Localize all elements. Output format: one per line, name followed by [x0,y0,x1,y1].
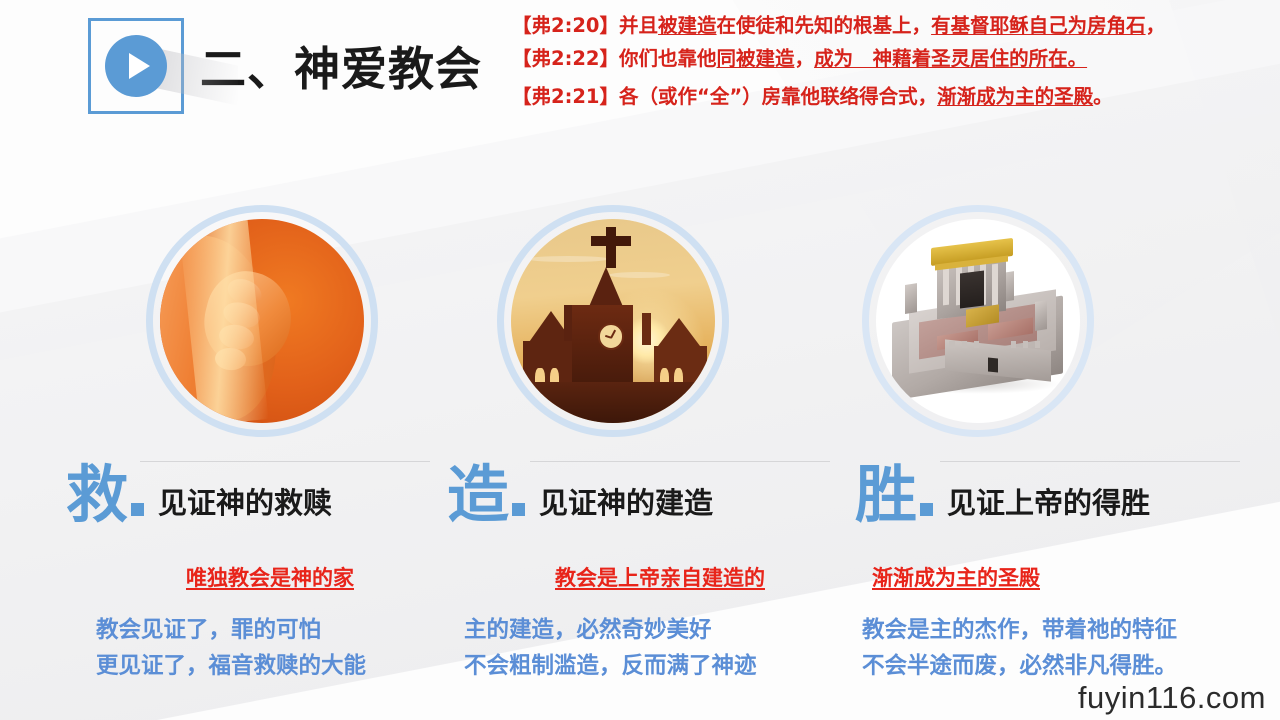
column-body-line: 教会是主的杰作，带着祂的特征 [862,612,1262,648]
verse-text: 。 [1093,85,1113,108]
circle-image-3 [862,205,1094,437]
verse-text-underlined: 渐渐成为主的圣殿 [937,85,1093,108]
verse-ref-2-20: 【弗2:20】 [512,14,619,37]
verse-ref-2-21: 【弗2:21】 [512,85,619,108]
circle-ring-1 [146,205,378,437]
column-body-2: 教会是上帝亲自建造的 主的建造，必然奇妙美好 不会粗制滥造，反而满了神迹 [460,562,860,685]
big-char-3: 胜 [855,464,933,526]
column-body-line: 教会见证了，罪的可怕 [70,612,470,648]
circle-image-1 [146,205,378,437]
big-char-glyph-3: 胜 [855,458,917,531]
verse-ref-2-22: 【弗2:22】 [512,47,619,70]
scripture-verse-2-21: 【弗2:21】各（或作“全”）房靠他联络得合式，渐渐成为主的圣殿。 [512,83,1274,112]
scripture-text-block: 【弗2:20】并且被建造在使徒和先知的根基上，有基督耶稣自己为房角石， 【弗2:… [512,12,1274,116]
scripture-verse-2-22: 【弗2:22】你们也靠他同被建造，成为 神藉着圣灵居住的所在。 [512,45,1274,74]
verse-text: 各（或作“全”）房靠他联络得合式， [619,85,937,108]
big-char-2: 造 [447,464,525,526]
verse-text: ， [795,47,815,70]
slide-title-block: 二、神爱教会 [88,18,482,114]
verse-text: 并且 [619,14,658,37]
column-heading-3: 胜 见证上帝的得胜 [855,452,1150,526]
big-char-1: 救 [66,464,144,526]
verse-text: ， [1146,14,1166,37]
blue-square-marker-1 [131,503,144,516]
verse-text: 在使徒和先知的根基上， [717,14,932,37]
site-watermark: fuyin116.com [1078,680,1266,716]
sub-heading-3: 见证上帝的得胜 [947,480,1150,526]
slide-canvas: 二、神爱教会 【弗2:20】并且被建造在使徒和先知的根基上，有基督耶稣自己为房角… [0,0,1280,720]
column-body-1: 唯独教会是神的家 教会见证了，罪的可怕 更见证了，福音救赎的大能 [70,562,470,685]
circle-image-2 [497,205,729,437]
column-body-line: 更见证了，福音救赎的大能 [70,648,470,684]
column-heading-2: 造 见证神的建造 [447,452,713,526]
sub-heading-2: 见证神的建造 [539,480,713,526]
column-red-heading-1: 唯独教会是神的家 [70,562,470,592]
circle-ring-2 [497,205,729,437]
circle-ring-3 [862,205,1094,437]
verse-text-underlined: 被建造 [658,14,717,37]
column-red-heading-2: 教会是上帝亲自建造的 [460,562,860,592]
verse-text-underlined: 成为 神藉着圣灵居住的所在。 [814,47,1087,70]
column-red-heading-3: 渐渐成为主的圣殿 [862,562,1262,592]
scripture-verse-2-20: 【弗2:20】并且被建造在使徒和先知的根基上，有基督耶稣自己为房角石， [512,12,1274,41]
column-body-line: 不会粗制滥造，反而满了神迹 [460,648,860,684]
column-heading-1: 救 见证神的救赎 [66,452,332,526]
sub-heading-1: 见证神的救赎 [158,480,332,526]
blue-square-marker-2 [512,503,525,516]
play-button-icon [105,35,167,97]
column-body-3: 渐渐成为主的圣殿 教会是主的杰作，带着祂的特征 不会半途而废，必然非凡得胜。 [862,562,1262,685]
big-char-glyph-1: 救 [66,458,128,531]
column-body-line: 主的建造，必然奇妙美好 [460,612,860,648]
verse-text: 你们也靠他 [619,47,717,70]
blue-square-marker-3 [920,503,933,516]
verse-text-underlined: 同被建造 [717,47,795,70]
verse-text-underlined: 有基督耶稣自己为房角石 [931,14,1146,37]
page-title: 二、神爱教会 [200,33,482,99]
big-char-glyph-2: 造 [447,458,509,531]
